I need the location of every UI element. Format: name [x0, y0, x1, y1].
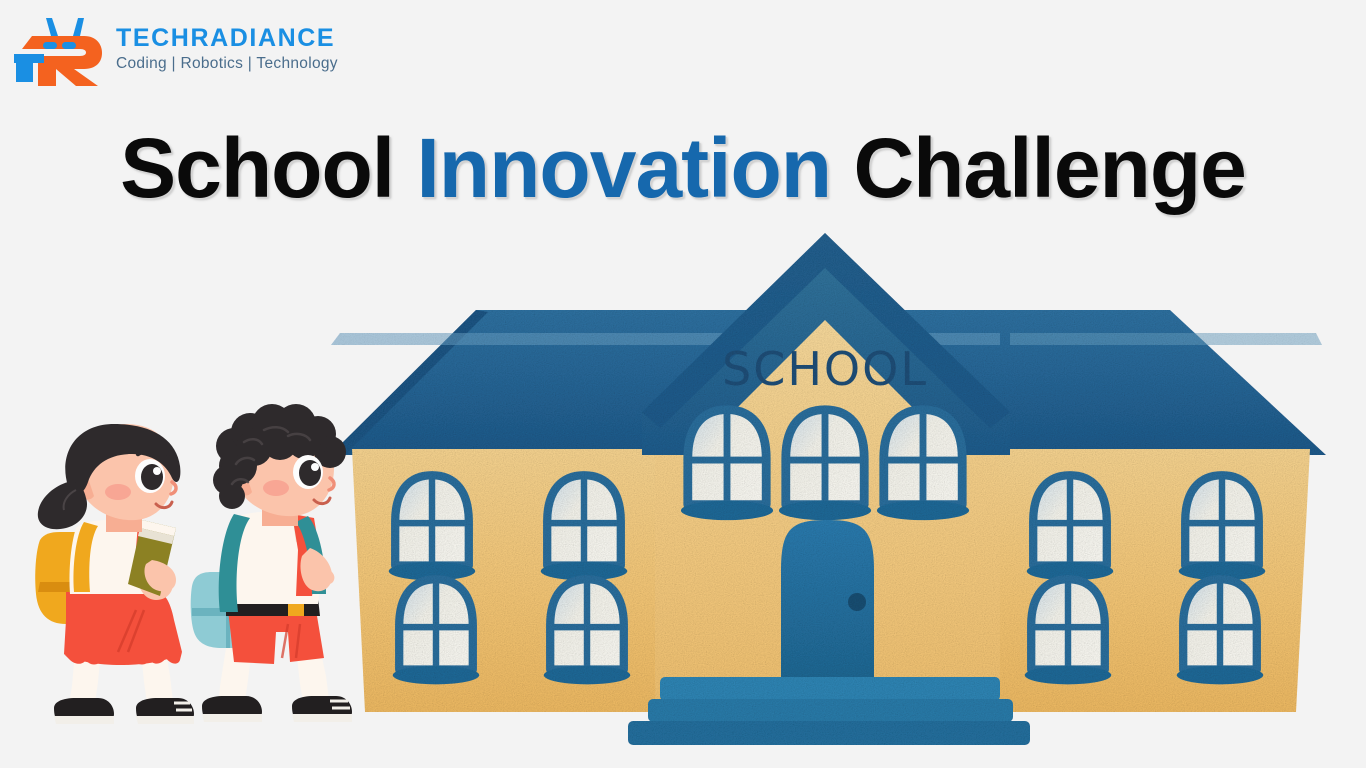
- school-building: SCHOOL: [330, 233, 1326, 745]
- school-illustration: SCHOOL: [0, 0, 1366, 768]
- window-right-bottom-2: [1177, 579, 1263, 684]
- window-left-top-2: [541, 475, 627, 580]
- student-girl: [35, 424, 194, 724]
- front-windows: [681, 410, 969, 520]
- window-front-3: [877, 410, 969, 520]
- window-right-top-1: [1027, 475, 1113, 580]
- roof-right-wing: [1000, 310, 1326, 455]
- window-left-top-1: [389, 475, 475, 580]
- window-right-top-2: [1179, 475, 1265, 580]
- window-right-bottom-1: [1025, 579, 1111, 684]
- poster-canvas: TECHRADIANCE Coding | Robotics | Technol…: [0, 0, 1366, 768]
- window-front-1: [681, 410, 773, 520]
- door-knob-icon: [848, 593, 866, 611]
- window-left-bottom-1: [393, 579, 479, 684]
- window-front-2: [779, 410, 871, 520]
- student-boy: [191, 404, 352, 722]
- school-sign-text: SCHOOL: [722, 342, 928, 396]
- entrance-steps: [628, 677, 1030, 745]
- window-left-bottom-2: [544, 579, 630, 684]
- school-door[interactable]: [781, 520, 874, 680]
